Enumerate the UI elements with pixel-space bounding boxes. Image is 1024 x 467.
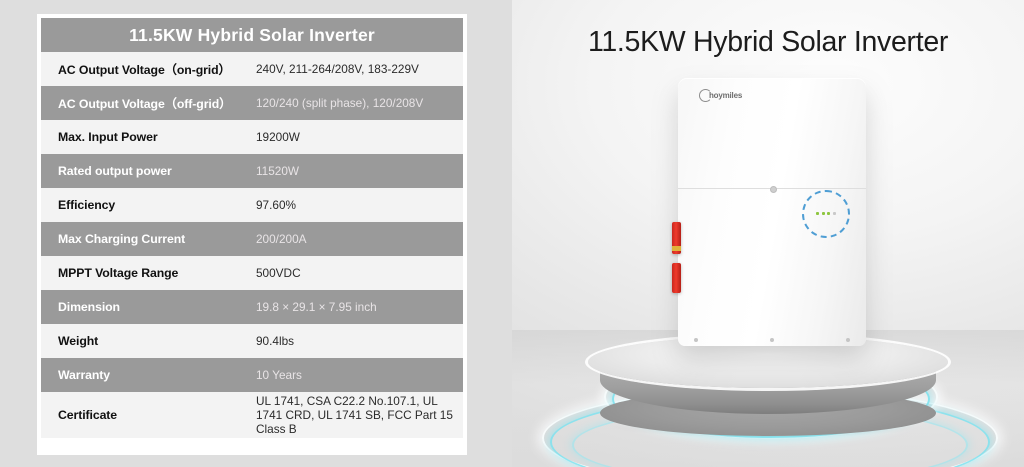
table-row: Warranty 10 Years xyxy=(41,358,463,392)
brand-logo: hoymiles xyxy=(699,89,742,102)
spec-value: UL 1741, CSA C22.2 No.107.1, UL 1741 CRD… xyxy=(252,392,463,438)
hero-title: 11.5KW Hybrid Solar Inverter xyxy=(512,26,1024,59)
specification-table: 11.5KW Hybrid Solar Inverter AC Output V… xyxy=(41,18,463,438)
inverter-device: hoymiles xyxy=(678,78,866,346)
dc-connector-bottom xyxy=(672,263,681,293)
status-led-icon xyxy=(802,190,850,238)
spec-key: Max. Input Power xyxy=(41,120,252,154)
spec-value: 120/240 (split phase), 120/208V xyxy=(252,86,463,120)
led-dot xyxy=(827,212,830,215)
led-dot xyxy=(833,212,836,215)
seam-screw-icon xyxy=(770,186,777,193)
display-pedestal xyxy=(588,336,948,440)
specification-pane: 11.5KW Hybrid Solar Inverter AC Output V… xyxy=(0,0,512,467)
table-row: Weight 90.4lbs xyxy=(41,324,463,358)
spec-value: 90.4lbs xyxy=(252,324,463,358)
spec-value: 19200W xyxy=(252,120,463,154)
spec-value: 240V, 211-264/208V, 183-229V xyxy=(252,52,463,86)
table-row: Max Charging Current 200/200A xyxy=(41,222,463,256)
spec-value: 200/200A xyxy=(252,222,463,256)
table-row: Max. Input Power 19200W xyxy=(41,120,463,154)
table-row: Rated output power 11520W xyxy=(41,154,463,188)
table-row: AC Output Voltage（on-grid） 240V, 211-264… xyxy=(41,52,463,86)
led-dot xyxy=(822,212,825,215)
spec-key: Warranty xyxy=(41,358,252,392)
led-dots xyxy=(804,212,848,215)
spec-value: 11520W xyxy=(252,154,463,188)
device-screw-icon xyxy=(846,338,850,342)
brand-wordmark: hoymiles xyxy=(709,91,742,100)
spec-key: Dimension xyxy=(41,290,252,324)
table-row: Certificate UL 1741, CSA C22.2 No.107.1,… xyxy=(41,392,463,438)
spec-value: 97.60% xyxy=(252,188,463,222)
spec-key: MPPT Voltage Range xyxy=(41,256,252,290)
spec-key: Efficiency xyxy=(41,188,252,222)
led-dot xyxy=(816,212,819,215)
spec-key: Max Charging Current xyxy=(41,222,252,256)
spec-key: AC Output Voltage（off-grid） xyxy=(41,86,252,120)
device-screw-icon xyxy=(770,338,774,342)
spec-key: Weight xyxy=(41,324,252,358)
specification-card: 11.5KW Hybrid Solar Inverter AC Output V… xyxy=(37,14,467,455)
table-row: Efficiency 97.60% xyxy=(41,188,463,222)
spec-value: 10 Years xyxy=(252,358,463,392)
spec-value: 500VDC xyxy=(252,256,463,290)
table-title: 11.5KW Hybrid Solar Inverter xyxy=(41,18,463,52)
table-row: AC Output Voltage（off-grid） 120/240 (spl… xyxy=(41,86,463,120)
spec-key: Rated output power xyxy=(41,154,252,188)
product-spec-page: 11.5KW Hybrid Solar Inverter AC Output V… xyxy=(0,0,1024,467)
table-row: Dimension 19.8 × 29.1 × 7.95 inch xyxy=(41,290,463,324)
spec-key: Certificate xyxy=(41,392,252,438)
product-hero-pane: 11.5KW Hybrid Solar Inverter hoymiles xyxy=(512,0,1024,467)
table-title-row: 11.5KW Hybrid Solar Inverter xyxy=(41,18,463,52)
device-screw-icon xyxy=(694,338,698,342)
connector-band xyxy=(672,246,681,251)
spec-key: AC Output Voltage（on-grid） xyxy=(41,52,252,86)
spec-value: 19.8 × 29.1 × 7.95 inch xyxy=(252,290,463,324)
table-row: MPPT Voltage Range 500VDC xyxy=(41,256,463,290)
